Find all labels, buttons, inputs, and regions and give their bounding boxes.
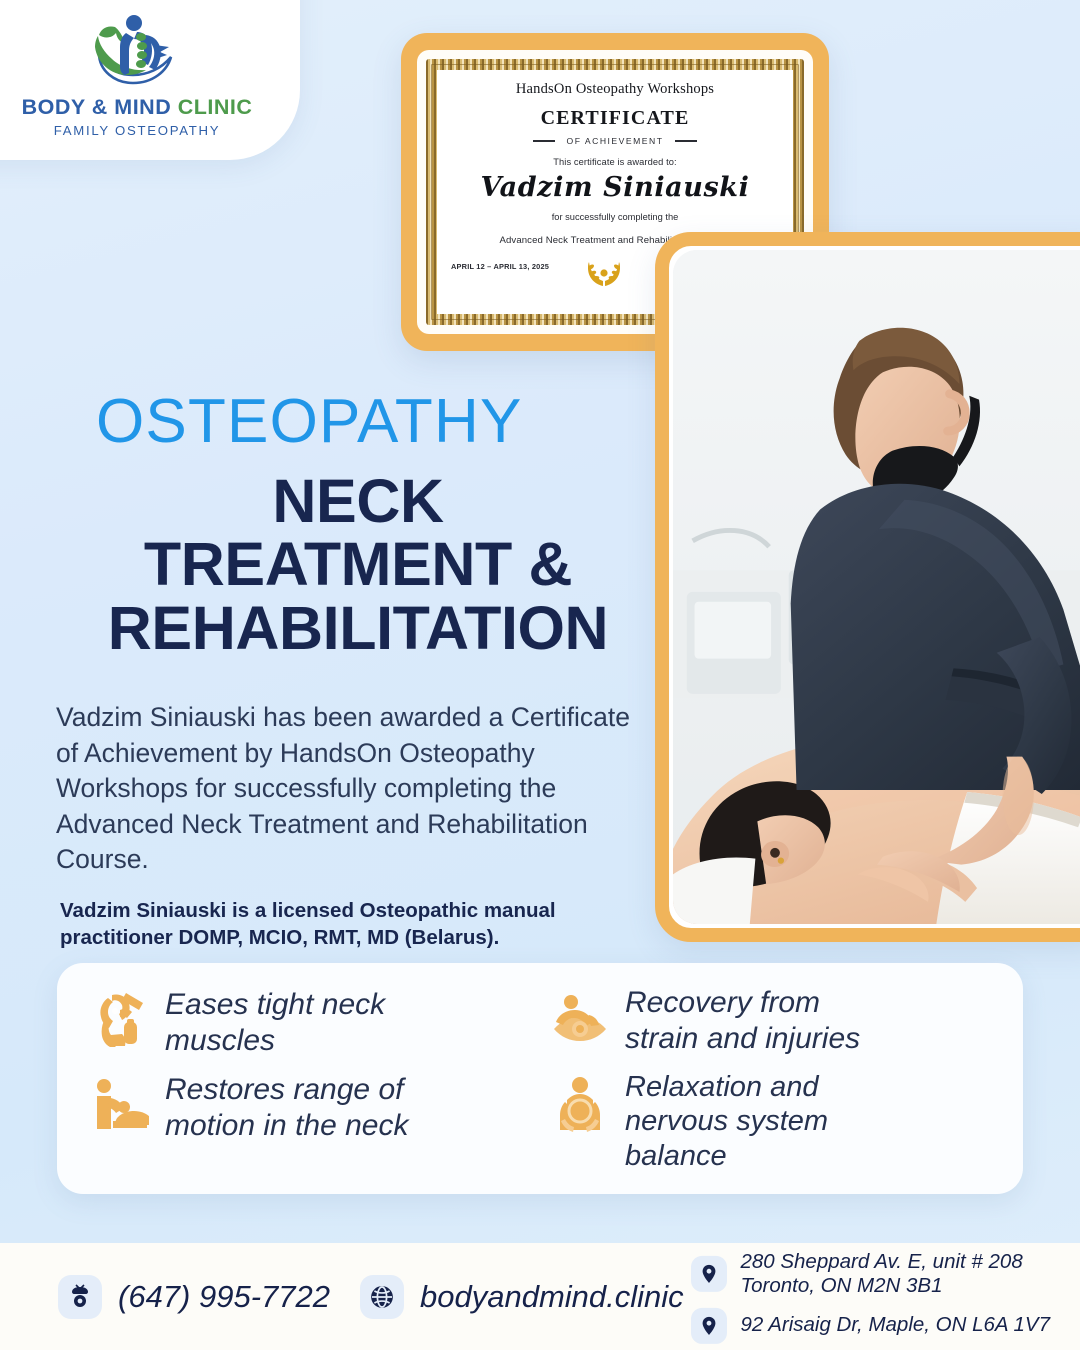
location-address: 280 Sheppard Av. E, unit # 208 Toronto, … xyxy=(740,1249,1022,1298)
contact-footer: (647) 995-7722 bodyandmind.clinic xyxy=(0,1243,1080,1350)
benefit-item: Recovery from strain and injuries xyxy=(551,987,997,1072)
page-title: NECK TREATMENT & REHABILITATION xyxy=(58,470,658,660)
practitioner-credential-note: Vadzim Siniauski is a licensed Osteopath… xyxy=(60,897,660,951)
rule-left xyxy=(533,140,555,142)
brand-logo-panel: BODY & MIND CLINIC FAMILY OSTEOPATHY xyxy=(0,0,300,160)
laurel-wreath-icon xyxy=(582,258,626,288)
treatment-photo-frame xyxy=(655,232,1080,942)
benefit-item: Restores range of motion in the neck xyxy=(91,1072,537,1174)
footer-locations: 280 Sheppard Av. E, unit # 208 Toronto, … xyxy=(691,1249,1050,1343)
website-contact[interactable]: bodyandmind.clinic xyxy=(360,1275,684,1319)
brand-tagline: FAMILY OSTEOPATHY xyxy=(54,123,220,138)
phone-icon xyxy=(58,1275,102,1319)
treatment-photo xyxy=(673,250,1080,924)
website-url: bodyandmind.clinic xyxy=(420,1279,684,1315)
osteopath-treating-patient-illustration xyxy=(673,250,1080,924)
brand-name-part2: CLINIC xyxy=(178,95,253,119)
certificate-recipient-name: Vadzim Siniauski xyxy=(481,172,750,203)
location-item[interactable]: 280 Sheppard Av. E, unit # 208 Toronto, … xyxy=(691,1249,1050,1298)
body-mind-clinic-logo-icon xyxy=(85,9,189,93)
benefit-label: Eases tight neck muscles xyxy=(165,987,385,1059)
flyer-canvas: BODY & MIND CLINIC FAMILY OSTEOPATHY Han… xyxy=(0,0,1080,1350)
benefit-label: Restores range of motion in the neck xyxy=(165,1072,408,1144)
brand-name-part1: BODY & MIND xyxy=(22,95,172,119)
certificate-for-label: for successfully completing the xyxy=(552,212,679,222)
benefit-item: Eases tight neck muscles xyxy=(91,987,537,1072)
certificate-organization: HandsOn Osteopathy Workshops xyxy=(516,81,714,98)
certificate-title: CERTIFICATE xyxy=(541,107,690,130)
phone-number: (647) 995-7722 xyxy=(118,1279,330,1315)
phone-contact[interactable]: (647) 995-7722 xyxy=(58,1275,330,1319)
map-pin-icon xyxy=(691,1308,727,1344)
benefit-label: Recovery from strain and injuries xyxy=(625,985,860,1057)
description-paragraph: Vadzim Siniauski has been awarded a Cert… xyxy=(56,700,656,878)
brand-name: BODY & MIND CLINIC xyxy=(22,95,253,120)
recovery-hands-icon xyxy=(551,989,609,1047)
benefits-card: Eases tight neck muscles Recovery from s… xyxy=(57,963,1023,1194)
footer-left-group: (647) 995-7722 bodyandmind.clinic xyxy=(0,1275,684,1319)
benefit-item: Relaxation and nervous system balance xyxy=(551,1072,997,1174)
certificate-subtitle: OF ACHIEVEMENT xyxy=(567,136,664,146)
eyebrow-heading: OSTEOPATHY xyxy=(96,386,523,457)
location-address: 92 Arisaig Dr, Maple, ON L6A 1V7 xyxy=(740,1313,1050,1338)
map-pin-icon xyxy=(691,1256,727,1292)
neck-massage-icon xyxy=(91,989,149,1047)
benefit-label: Relaxation and nervous system balance xyxy=(625,1070,828,1174)
range-of-motion-icon xyxy=(91,1074,149,1132)
certificate-awarded-label: This certificate is awarded to: xyxy=(553,157,677,167)
globe-icon xyxy=(360,1275,404,1319)
certificate-date-range: APRIL 12 – APRIL 13, 2025 xyxy=(451,256,549,271)
location-item[interactable]: 92 Arisaig Dr, Maple, ON L6A 1V7 xyxy=(691,1308,1050,1344)
relaxation-balance-icon xyxy=(551,1074,609,1132)
rule-right xyxy=(675,140,697,142)
certificate-subtitle-row: OF ACHIEVEMENT xyxy=(533,136,698,146)
